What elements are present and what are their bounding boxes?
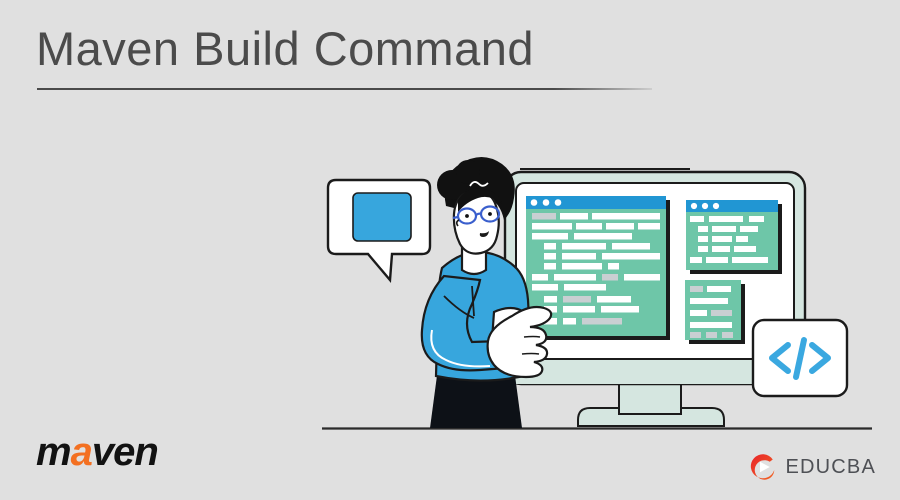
banner-root: Maven Build Command — [0, 0, 900, 500]
window-dot — [691, 203, 697, 209]
speech-bubble — [328, 180, 430, 280]
maven-logo-accent-a: a — [71, 430, 92, 474]
maven-logo: maven — [36, 432, 158, 472]
monitor-stand-neck — [619, 382, 681, 414]
window-dot — [713, 203, 719, 209]
window-dot — [555, 199, 562, 206]
educba-swirl-play-icon — [748, 452, 778, 482]
hair-bun-top — [456, 160, 480, 184]
educba-play-triangle — [760, 462, 770, 473]
eye-left — [465, 214, 469, 218]
code-badge — [753, 320, 847, 396]
finger-line-1 — [524, 337, 540, 338]
finger-line-2 — [522, 354, 539, 355]
maven-logo-part-1: m — [36, 430, 71, 474]
educba-logo: EDUCBA — [748, 452, 876, 482]
secondary-window-titlebar — [686, 200, 778, 212]
tertiary-code-panel — [685, 280, 745, 344]
hero-illustration — [0, 0, 900, 500]
secondary-code-window — [686, 200, 782, 274]
educba-wordmark: EDUCBA — [785, 456, 876, 479]
maven-logo-part-2: ven — [92, 430, 158, 474]
speech-bubble-inner-square — [353, 193, 411, 241]
window-dot — [543, 199, 550, 206]
window-dot — [531, 199, 538, 206]
eye-right — [488, 212, 492, 216]
window-dot — [702, 203, 708, 209]
